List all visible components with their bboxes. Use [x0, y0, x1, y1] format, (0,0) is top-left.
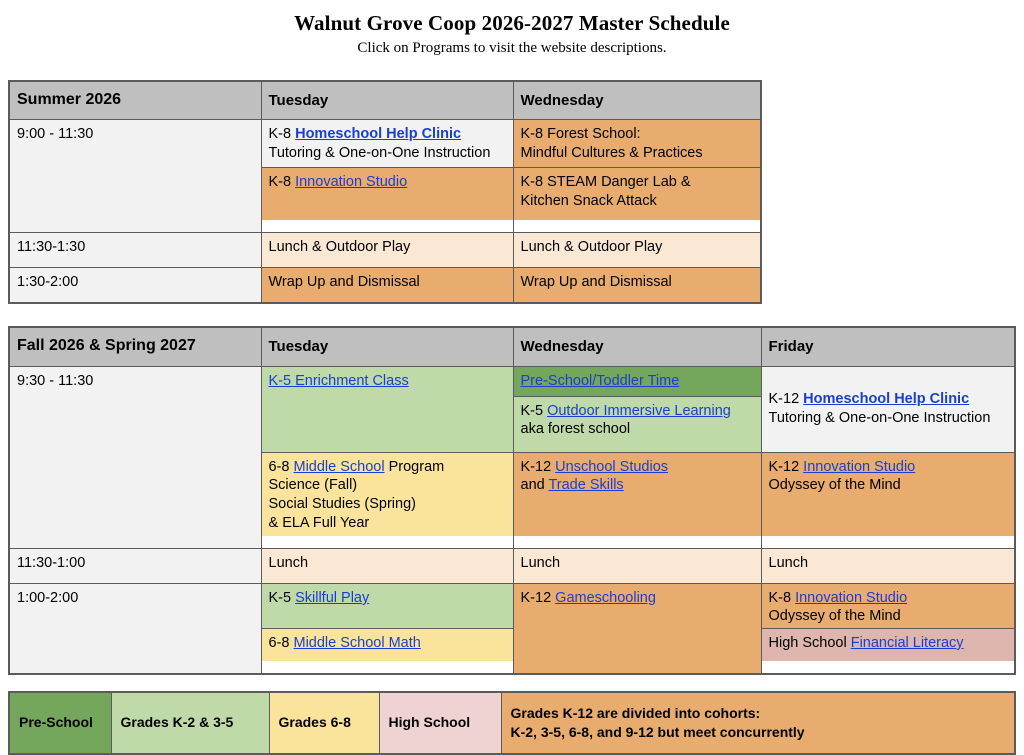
- grade-prefix: K-12: [521, 590, 556, 606]
- legend-spacer: [0, 675, 1024, 691]
- fall-friday-cell-0: K-12 Homeschool Help Clinic Tutoring & O…: [761, 366, 1015, 548]
- table-row: 9:30 - 11:30 K-5 Enrichment Class 6-8 Mi…: [9, 366, 1015, 548]
- summer-tuesday-cell-2: Wrap Up and Dismissal: [261, 268, 513, 304]
- summer-wednesday-0a: K-8 Forest School: Mindful Cultures & Pr…: [514, 120, 761, 167]
- summer-wednesday-cell-2: Wrap Up and Dismissal: [513, 268, 761, 304]
- fall-wednesday-0b: K-5 Outdoor Immersive Learning aka fores…: [514, 396, 761, 452]
- program-line2: Kitchen Snack Attack: [521, 193, 657, 209]
- page-title: Walnut Grove Coop 2026-2027 Master Sched…: [0, 10, 1024, 36]
- grade-prefix: High School: [769, 635, 851, 651]
- legend-cohort-note: Grades K-12 are divided into cohorts: K-…: [501, 692, 1015, 754]
- program-link-unschool-studios[interactable]: Unschool Studios: [555, 459, 668, 475]
- summer-schedule-table: Summer 2026 Tuesday Wednesday 9:00 - 11:…: [8, 80, 762, 304]
- fall-period-header: Fall 2026 & Spring 2027: [9, 327, 261, 366]
- friday-clinic-line1: K-12 Homeschool Help Clinic: [769, 390, 1008, 409]
- legend-item-grades-6-8: Grades 6-8: [269, 692, 379, 754]
- fall-tuesday-cell-1: Lunch: [261, 548, 513, 583]
- summer-wednesday-cell-0: K-8 Forest School: Mindful Cultures & Pr…: [513, 120, 761, 233]
- summer-tuesday-cell-0: K-8 Homeschool Help Clinic Tutoring & On…: [261, 120, 513, 233]
- table-row: 11:30-1:00 Lunch Lunch Lunch: [9, 548, 1015, 583]
- fall-wednesday-0c: K-12 Unschool Studios and Trade Skills: [514, 452, 761, 536]
- program-link-innovation-studio[interactable]: Innovation Studio: [795, 590, 907, 606]
- program-link-outdoor-immersive-learning[interactable]: Outdoor Immersive Learning: [547, 403, 731, 419]
- program-link-homeschool-help-clinic[interactable]: Homeschool Help Clinic: [803, 391, 969, 407]
- table-row: 1:00-2:00 K-5 Skillful Play 6-8 Middle S…: [9, 583, 1015, 674]
- summer-wednesday-header: Wednesday: [513, 81, 761, 120]
- program-detail-line: Social Studies (Spring): [269, 496, 417, 512]
- table-row: 1:30-2:00 Wrap Up and Dismissal Wrap Up …: [9, 268, 761, 304]
- legend-item-high-school: High School: [379, 692, 501, 754]
- page-header: Walnut Grove Coop 2026-2027 Master Sched…: [0, 0, 1024, 58]
- page-subtitle: Click on Programs to visit the website d…: [0, 39, 1024, 58]
- schedule-page: Walnut Grove Coop 2026-2027 Master Sched…: [0, 0, 1024, 737]
- program-link-homeschool-help-clinic[interactable]: Homeschool Help Clinic: [295, 126, 461, 142]
- fall-friday-2b: High School Financial Literacy: [762, 628, 1015, 661]
- fall-wednesday-cell-2: K-12 Gameschooling: [513, 583, 761, 674]
- fall-tuesday-cell-2: K-5 Skillful Play 6-8 Middle School Math: [261, 583, 513, 674]
- friday-clinic-line2: Tutoring & One-on-One Instruction: [769, 409, 1008, 428]
- legend-note-line2: K-2, 3-5, 6-8, and 9-12 but meet concurr…: [511, 723, 1006, 742]
- summer-time-1: 11:30-1:30: [9, 233, 261, 268]
- fall-friday-0b: K-12 Innovation Studio Odyssey of the Mi…: [762, 452, 1015, 536]
- summer-time-0: 9:00 - 11:30: [9, 120, 261, 233]
- program-link-gameschooling[interactable]: Gameschooling: [555, 590, 656, 606]
- fall-tuesday-0a: K-5 Enrichment Class: [262, 367, 513, 452]
- fall-tuesday-2a: K-5 Skillful Play: [262, 584, 513, 628]
- grade-prefix: K-12: [769, 391, 804, 407]
- table-row: 11:30-1:30 Lunch & Outdoor Play Lunch & …: [9, 233, 761, 268]
- fall-spring-schedule-table: Fall 2026 & Spring 2027 Tuesday Wednesda…: [8, 326, 1016, 674]
- program-subtitle: Tutoring & One-on-One Instruction: [269, 145, 491, 161]
- summer-tuesday-0a: K-8 Homeschool Help Clinic Tutoring & On…: [262, 120, 513, 167]
- summer-tuesday-cell-1: Lunch & Outdoor Play: [261, 233, 513, 268]
- program-line1: K-8 Forest School:: [521, 126, 641, 142]
- grade-prefix: K-12: [769, 459, 804, 475]
- tables-spacer: [0, 304, 1024, 326]
- grade-prefix: K-5: [521, 403, 548, 419]
- conjunction: and: [521, 477, 549, 493]
- program-link-middle-school[interactable]: Middle School: [294, 459, 385, 475]
- fall-friday-header: Friday: [761, 327, 1015, 366]
- summer-tuesday-header: Tuesday: [261, 81, 513, 120]
- fall-tuesday-2b: 6-8 Middle School Math: [262, 628, 513, 661]
- program-link-trade-skills[interactable]: Trade Skills: [548, 477, 623, 493]
- fall-time-0: 9:30 - 11:30: [9, 366, 261, 548]
- program-link-preschool-toddler-time[interactable]: Pre-School/Toddler Time: [521, 373, 680, 389]
- program-detail-line: & ELA Full Year: [269, 515, 370, 531]
- summer-period-header: Summer 2026: [9, 81, 261, 120]
- program-subtitle: aka forest school: [521, 421, 631, 437]
- summer-time-2: 1:30-2:00: [9, 268, 261, 304]
- header-spacer: [0, 58, 1024, 80]
- fall-time-1: 11:30-1:00: [9, 548, 261, 583]
- summer-wednesday-0b: K-8 STEAM Danger Lab & Kitchen Snack Att…: [514, 167, 761, 220]
- fall-wednesday-0a: Pre-School/Toddler Time: [514, 367, 761, 396]
- grade-prefix: K-8: [269, 174, 296, 190]
- summer-tuesday-0b: K-8 Innovation Studio: [262, 167, 513, 220]
- program-detail-line: Science (Fall): [269, 477, 358, 493]
- fall-tuesday-0b: 6-8 Middle School Program Science (Fall)…: [262, 452, 513, 536]
- program-link-financial-literacy[interactable]: Financial Literacy: [851, 635, 964, 651]
- grade-prefix: K-12: [521, 459, 556, 475]
- legend-item-pre-school: Pre-School: [9, 692, 111, 754]
- color-legend: Pre-School Grades K-2 & 3-5 Grades 6-8 H…: [8, 691, 1016, 755]
- program-subtitle: Odyssey of the Mind: [769, 608, 901, 624]
- grade-prefix: 6-8: [269, 635, 294, 651]
- grade-prefix: K-8: [269, 126, 296, 142]
- grade-prefix: 6-8: [269, 459, 294, 475]
- fall-friday-0a: K-12 Homeschool Help Clinic Tutoring & O…: [762, 367, 1015, 452]
- table-row: 9:00 - 11:30 K-8 Homeschool Help Clinic …: [9, 120, 761, 233]
- program-line1: K-8 STEAM Danger Lab &: [521, 174, 691, 190]
- program-link-innovation-studio[interactable]: Innovation Studio: [295, 174, 407, 190]
- summer-table-header-row: Summer 2026 Tuesday Wednesday: [9, 81, 761, 120]
- fall-friday-cell-1: Lunch: [761, 548, 1015, 583]
- legend-row: Pre-School Grades K-2 & 3-5 Grades 6-8 H…: [9, 692, 1015, 754]
- legend-item-grades-k2-35: Grades K-2 & 3-5: [111, 692, 269, 754]
- summer-wednesday-cell-1: Lunch & Outdoor Play: [513, 233, 761, 268]
- fall-friday-cell-2: K-8 Innovation Studio Odyssey of the Min…: [761, 583, 1015, 674]
- program-link-k5-enrichment-class[interactable]: K-5 Enrichment Class: [269, 373, 409, 389]
- fall-wednesday-cell-1: Lunch: [513, 548, 761, 583]
- program-link-innovation-studio[interactable]: Innovation Studio: [803, 459, 915, 475]
- fall-wednesday-header: Wednesday: [513, 327, 761, 366]
- fall-tuesday-header: Tuesday: [261, 327, 513, 366]
- program-suffix: Program: [385, 459, 445, 475]
- program-subtitle: Odyssey of the Mind: [769, 477, 901, 493]
- program-link-skillful-play[interactable]: Skillful Play: [295, 590, 369, 606]
- fall-wednesday-cell-0: Pre-School/Toddler Time K-5 Outdoor Imme…: [513, 366, 761, 548]
- program-link-middle-school-math[interactable]: Middle School Math: [294, 635, 421, 651]
- fall-table-header-row: Fall 2026 & Spring 2027 Tuesday Wednesda…: [9, 327, 1015, 366]
- program-line2: Mindful Cultures & Practices: [521, 145, 703, 161]
- fall-friday-2a: K-8 Innovation Studio Odyssey of the Min…: [762, 584, 1015, 628]
- grade-prefix: K-8: [769, 590, 796, 606]
- legend-note-line1: Grades K-12 are divided into cohorts:: [511, 704, 1006, 723]
- fall-tuesday-cell-0: K-5 Enrichment Class 6-8 Middle School P…: [261, 366, 513, 548]
- grade-prefix: K-5: [269, 590, 296, 606]
- fall-time-2: 1:00-2:00: [9, 583, 261, 674]
